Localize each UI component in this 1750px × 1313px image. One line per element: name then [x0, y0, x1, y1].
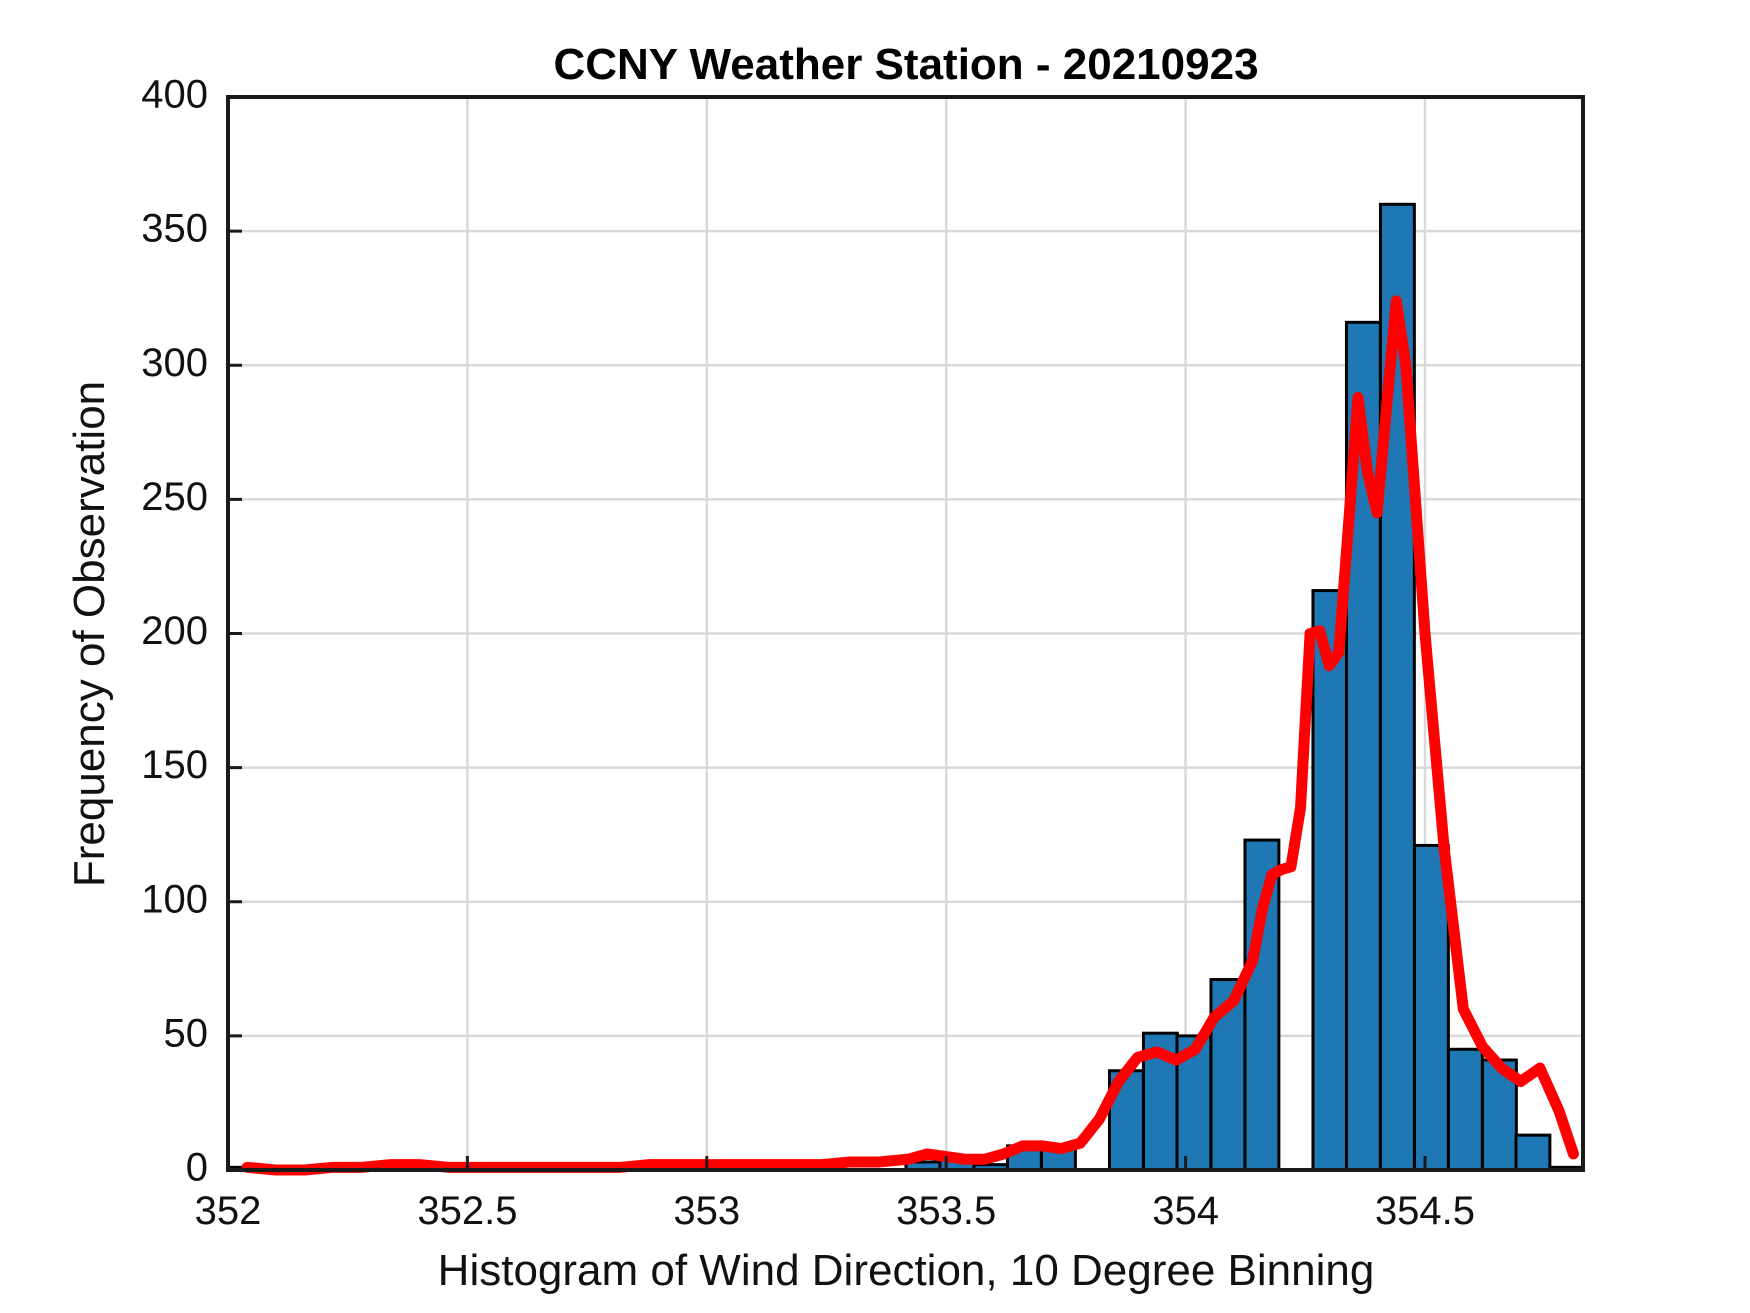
- x-tick-label: 353.5: [896, 1189, 996, 1233]
- x-tick-label: 352.5: [417, 1189, 517, 1233]
- y-tick-label: 250: [141, 475, 208, 519]
- histogram-bar: [1380, 204, 1414, 1170]
- y-tick-label: 150: [141, 743, 208, 787]
- histogram-bar: [1448, 1049, 1482, 1170]
- histogram-bar: [1245, 840, 1279, 1170]
- x-tick-label: 353: [673, 1189, 740, 1233]
- y-tick-label: 100: [141, 877, 208, 921]
- y-tick-label: 350: [141, 207, 208, 251]
- histogram-chart: CCNY Weather Station - 20210923 05010015…: [0, 0, 1750, 1313]
- x-axis-label: Histogram of Wind Direction, 10 Degree B…: [438, 1246, 1375, 1295]
- y-axis-label: Frequency of Observation: [65, 381, 114, 887]
- chart-figure: CCNY Weather Station - 20210923 05010015…: [0, 0, 1750, 1313]
- histogram-bar: [1516, 1135, 1550, 1170]
- y-tick-label: 200: [141, 609, 208, 653]
- y-tick-label: 50: [164, 1011, 209, 1055]
- y-tick-label: 400: [141, 73, 208, 117]
- x-tick-label: 354: [1152, 1189, 1219, 1233]
- y-tick-label: 300: [141, 341, 208, 385]
- y-tick-label: 0: [186, 1146, 208, 1190]
- histogram-bar: [1414, 845, 1448, 1170]
- x-tick-label: 354.5: [1375, 1189, 1475, 1233]
- x-tick-label: 352: [195, 1189, 262, 1233]
- chart-title: CCNY Weather Station - 20210923: [553, 40, 1258, 89]
- histogram-bar: [1313, 591, 1347, 1170]
